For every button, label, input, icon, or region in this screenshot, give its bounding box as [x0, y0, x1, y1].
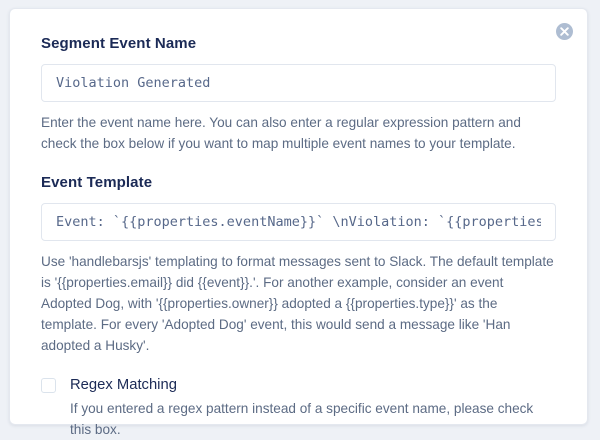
segment-event-name-label: Segment Event Name: [41, 35, 556, 53]
regex-matching-description: If you entered a regex pattern instead o…: [70, 398, 556, 440]
event-template-help: Use 'handlebarsjs' templating to format …: [41, 251, 556, 356]
close-button[interactable]: [556, 23, 573, 40]
regex-matching-row: Regex Matching If you entered a regex pa…: [41, 375, 556, 440]
event-template-input[interactable]: [41, 203, 556, 241]
close-icon: [560, 27, 569, 36]
segment-event-name-input[interactable]: [41, 64, 556, 102]
regex-matching-checkbox[interactable]: [41, 378, 56, 393]
section-spacer: [41, 154, 556, 174]
segment-event-name-help: Enter the event name here. You can also …: [41, 112, 556, 154]
regex-matching-label[interactable]: Regex Matching: [70, 375, 556, 395]
segment-event-dialog: Segment Event Name Enter the event name …: [9, 8, 588, 425]
event-template-label: Event Template: [41, 174, 556, 192]
dialog-content: Segment Event Name Enter the event name …: [10, 9, 587, 440]
regex-matching-texts: Regex Matching If you entered a regex pa…: [70, 375, 556, 440]
